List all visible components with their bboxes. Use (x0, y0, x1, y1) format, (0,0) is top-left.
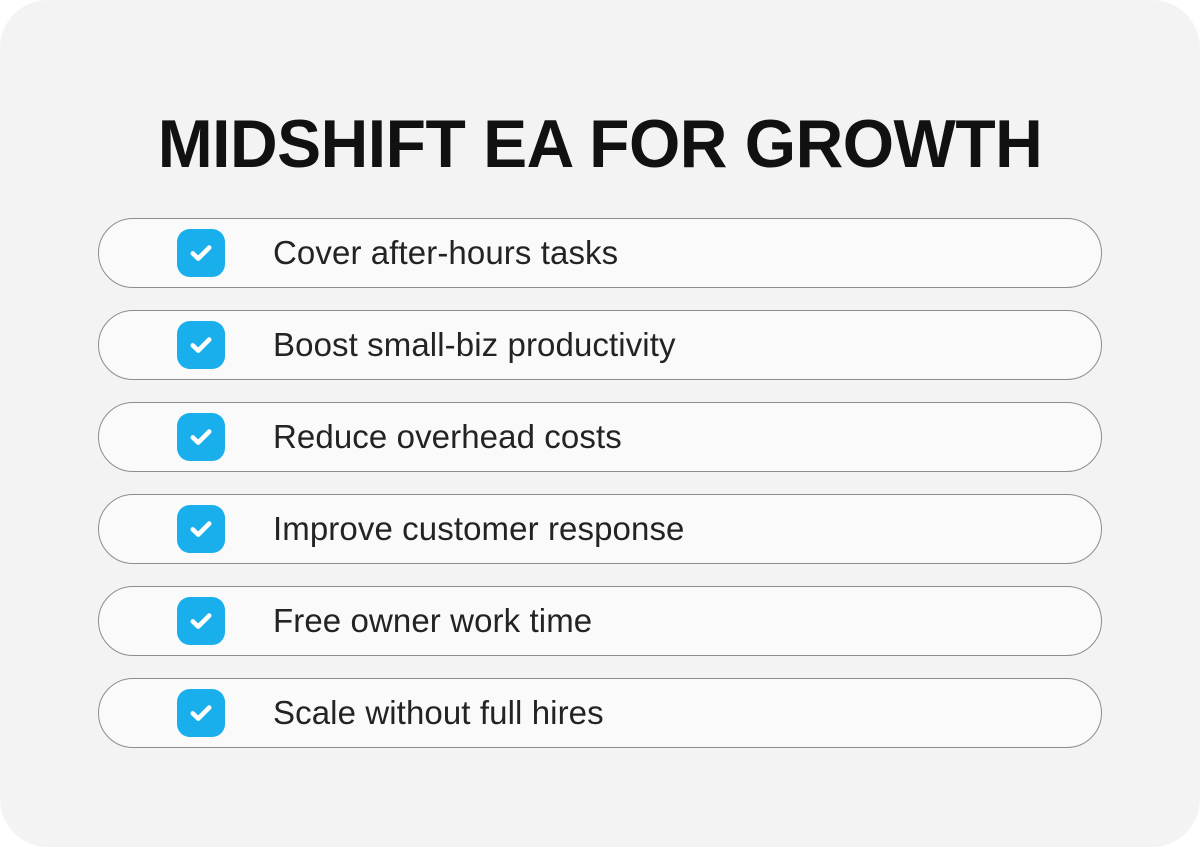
benefits-checklist: Cover after-hours tasks Boost small-biz … (98, 218, 1102, 748)
page-title: MIDSHIFT EA FOR GROWTH (18, 96, 1182, 192)
checklist-row[interactable]: Cover after-hours tasks (98, 218, 1102, 288)
check-icon[interactable] (177, 413, 225, 461)
checklist-item-label: Improve customer response (273, 510, 1101, 548)
check-icon[interactable] (177, 597, 225, 645)
checklist-row[interactable]: Free owner work time (98, 586, 1102, 656)
checklist-row[interactable]: Improve customer response (98, 494, 1102, 564)
checklist-item-label: Free owner work time (273, 602, 1101, 640)
checklist-item-label: Scale without full hires (273, 694, 1101, 732)
checklist-row[interactable]: Scale without full hires (98, 678, 1102, 748)
check-icon[interactable] (177, 321, 225, 369)
check-icon[interactable] (177, 689, 225, 737)
checklist-row[interactable]: Reduce overhead costs (98, 402, 1102, 472)
benefits-card: MIDSHIFT EA FOR GROWTH Cover after-hours… (0, 0, 1200, 847)
checklist-item-label: Cover after-hours tasks (273, 234, 1101, 272)
check-icon[interactable] (177, 229, 225, 277)
checklist-item-label: Reduce overhead costs (273, 418, 1101, 456)
checklist-item-label: Boost small-biz productivity (273, 326, 1101, 364)
checklist-row[interactable]: Boost small-biz productivity (98, 310, 1102, 380)
check-icon[interactable] (177, 505, 225, 553)
